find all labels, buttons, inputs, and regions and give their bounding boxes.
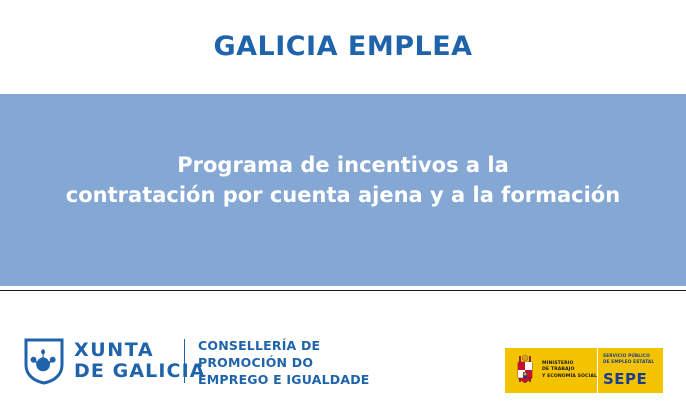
sepe-logo: SERVICIO PÚBLICO DE EMPLEO ESTATAL SEPE [597,348,663,393]
conselleria-line-1: CONSELLERÍA DE [198,338,370,355]
conselleria-line-3: EMPREGO E IGUALDADE [198,372,370,389]
spain-coat-of-arms-icon [512,354,538,388]
program-subtitle-line-2: contratación por cuenta ajena y a la for… [66,181,620,211]
sepe-description: SERVICIO PÚBLICO DE EMPLEO ESTATAL [603,354,654,367]
ministerio-text: MINISTERIO DE TRABAJO Y ECONOMÍA SOCIAL [542,361,597,381]
ministerio-logo: MINISTERIO DE TRABAJO Y ECONOMÍA SOCIAL [505,348,597,393]
program-subtitle-line-1: Programa de incentivos a la [177,151,509,181]
header-area: GALICIA EMPLEA [0,0,686,94]
ministerio-line-2: DE TRABAJO [542,367,597,374]
conselleria-line-2: PROMOCIÓN DO [198,355,370,372]
poster-page: GALICIA EMPLEA Programa de incentivos a … [0,0,686,410]
sepe-acronym: SEPE [603,370,647,388]
xunta-wordmark-line-2: DE GALICIA [74,361,206,382]
sepe-line-2: DE EMPLEO ESTATAL [603,360,654,366]
page-title: GALICIA EMPLEA [213,32,472,62]
xunta-de-galicia-logo: XUNTA DE GALICIA [23,337,206,385]
program-banner: Programa de incentivos a la contratación… [0,94,686,286]
ministerio-sepe-logo: MINISTERIO DE TRABAJO Y ECONOMÍA SOCIAL … [505,348,663,393]
conselleria-text: CONSELLERÍA DE PROMOCIÓN DO EMPREGO E IG… [198,338,370,389]
logo-vertical-divider [184,339,185,383]
xunta-wordmark-line-1: XUNTA [74,340,206,361]
program-banner-inner: Programa de incentivos a la contratación… [0,94,686,286]
footer-logos: XUNTA DE GALICIA CONSELLERÍA DE PROMOCIÓ… [0,291,686,410]
ministerio-line-3: Y ECONOMÍA SOCIAL [542,374,597,381]
xunta-wordmark: XUNTA DE GALICIA [74,340,206,381]
xunta-shield-icon [23,337,65,385]
